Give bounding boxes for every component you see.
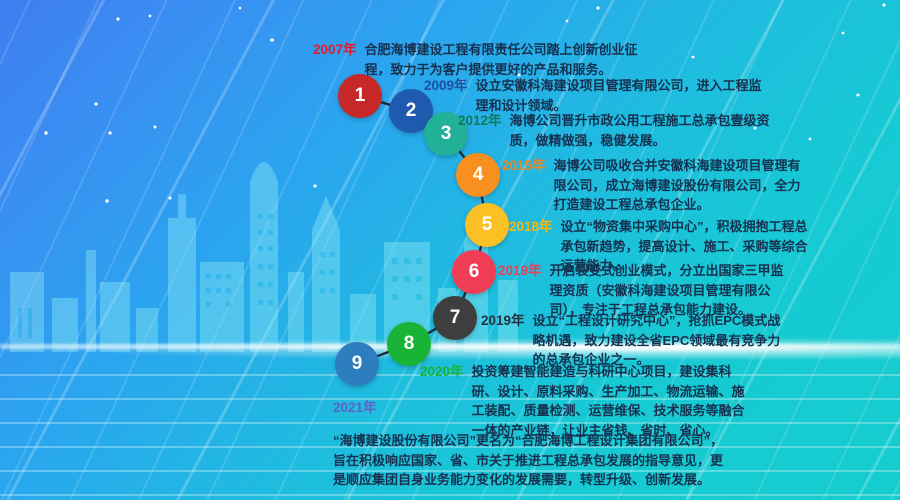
- timeline-description: 海博公司晋升市政公用工程施工总承包壹级资质，做精做强，稳健发展。: [510, 111, 793, 150]
- timeline-entry-9: 2021年“海博建设股份有限公司”更名为“合肥海博工程设计集团有限公司”，旨在积…: [333, 398, 723, 490]
- timeline-node-number: 7: [450, 307, 461, 329]
- timeline-entry-2: 2009年设立安徽科海建设项目管理有限公司，进入工程监理和设计领域。: [424, 76, 764, 115]
- timeline-entry-3: 2012年海博公司晋升市政公用工程施工总承包壹级资质，做精做强，稳健发展。: [458, 111, 793, 150]
- timeline-node-number: 3: [441, 123, 452, 145]
- timeline-node-7[interactable]: 7: [433, 296, 477, 340]
- timeline-node-1[interactable]: 1: [338, 74, 382, 118]
- timeline-year-label: 2015年: [502, 156, 546, 175]
- timeline-description: 合肥海博建设工程有限责任公司踏上创新创业征程，致力于为客户提供更好的产品和服务。: [365, 40, 643, 79]
- timeline-entry-7: 2019年设立“工程设计研究中心”，抢抓EPC模式战略机遇，致力建设全省EPC领…: [481, 311, 781, 370]
- timeline-node-number: 8: [404, 333, 415, 355]
- timeline-node-4[interactable]: 4: [456, 153, 500, 197]
- timeline-node-9[interactable]: 9: [335, 342, 379, 386]
- timeline-node-number: 1: [355, 85, 366, 107]
- timeline-node-8[interactable]: 8: [387, 322, 431, 366]
- timeline-year-label: 2009年: [424, 76, 468, 95]
- timeline-node-number: 5: [482, 214, 493, 236]
- timeline-infographic: 123456789 2007年合肥海博建设工程有限责任公司踏上创新创业征程，致力…: [0, 0, 900, 500]
- timeline-description: 海博公司吸收合并安徽科海建设项目管理有限公司，成立海博建设股份有限公司，全力打造…: [554, 156, 802, 215]
- timeline-node-number: 9: [352, 353, 363, 375]
- timeline-year-label: 2020年: [420, 362, 464, 381]
- timeline-node-number: 4: [473, 164, 484, 186]
- timeline-description: 设立“工程设计研究中心”，抢抓EPC模式战略机遇，致力建设全省EPC领域最有竞争…: [533, 311, 781, 370]
- timeline-year-label: 2019年: [498, 261, 542, 280]
- timeline-year-label: 2021年: [333, 398, 377, 417]
- timeline-entry-1: 2007年合肥海博建设工程有限责任公司踏上创新创业征程，致力于为客户提供更好的产…: [313, 40, 643, 79]
- timeline-entry-4: 2015年海博公司吸收合并安徽科海建设项目管理有限公司，成立海博建设股份有限公司…: [502, 156, 802, 215]
- timeline-node-number: 2: [406, 100, 417, 122]
- timeline-year-label: 2019年: [481, 311, 525, 330]
- timeline-year-label: 2012年: [458, 111, 502, 130]
- timeline-year-label: 2018年: [509, 217, 553, 236]
- timeline-year-label: 2007年: [313, 40, 357, 59]
- timeline-description: “海博建设股份有限公司”更名为“合肥海博工程设计集团有限公司”，旨在积极响应国家…: [333, 431, 723, 490]
- timeline-node-6[interactable]: 6: [452, 250, 496, 294]
- timeline-description: 设立安徽科海建设项目管理有限公司，进入工程监理和设计领域。: [476, 76, 764, 115]
- timeline-node-number: 6: [469, 261, 480, 283]
